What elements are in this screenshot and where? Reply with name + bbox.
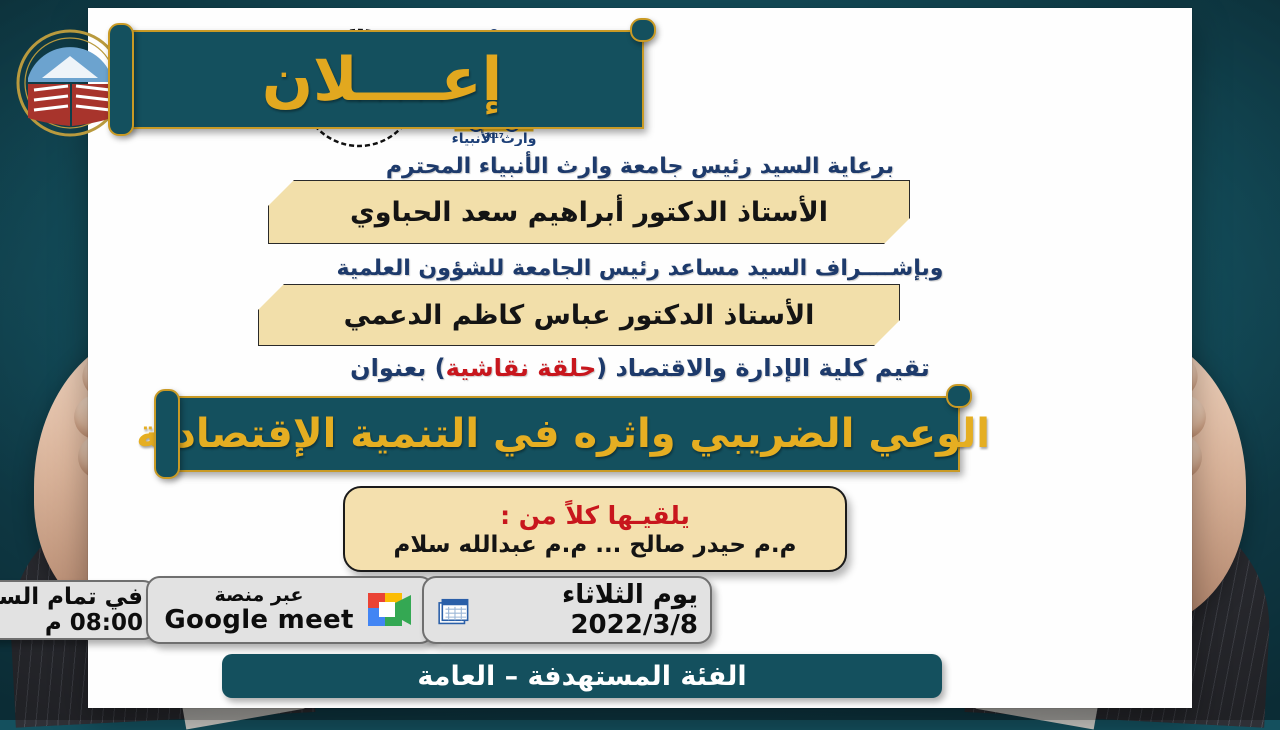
college-line-after: ) بعنوان	[350, 354, 445, 382]
supervision-line: وبإشــــراف السيد مساعد رئيس الجامعة للش…	[88, 256, 1192, 281]
college-line: تقيم كلية الإدارة والاقتصاد (حلقة نقاشية…	[88, 354, 1192, 382]
announcement-title: إعــــلان	[262, 50, 502, 110]
college-line-before: تقيم كلية الإدارة والاقتصاد (	[596, 354, 930, 382]
patron-name-box: الأستاذ الدكتور أبراهيم سعد الحباوي	[268, 180, 910, 244]
speakers-names: م.م حيدر صالح ... م.م عبدالله سلام	[394, 532, 797, 558]
platform-text: عبر منصة Google meet	[164, 585, 353, 635]
google-meet-icon	[364, 589, 416, 631]
speakers-box: يلقيـها كلاً من : م.م حيدر صالح ... م.م …	[343, 486, 847, 572]
patron-name: الأستاذ الدكتور أبراهيم سعد الحباوي	[350, 197, 828, 228]
platform-label: عبر منصة	[215, 585, 304, 606]
audience-text: الفئة المستهدفة – العامة	[417, 661, 746, 692]
calendar-icon	[436, 587, 472, 633]
college-line-highlight: حلقة نقاشية	[446, 354, 597, 382]
audience-footer: الفئة المستهدفة – العامة	[222, 654, 942, 698]
seminar-title: الوعي الضريبي واثره في التنمية الإقتصادي…	[136, 412, 990, 456]
speakers-heading: يلقيـها كلاً من :	[500, 501, 690, 530]
announcement-board: وارث الأنبياء 2017 UNIVERSITY OF WARITH …	[88, 8, 1192, 708]
platform-chip: عبر منصة Google meet	[146, 576, 434, 644]
time-text: في تمام الساعة 08:00 م	[0, 584, 143, 636]
time-chip: في تمام الساعة 08:00 م	[0, 580, 157, 640]
supervisor-name: الأستاذ الدكتور عباس كاظم الدعمي	[344, 300, 815, 331]
patronage-line: برعاية السيد رئيس جامعة وارث الأنبياء ال…	[88, 154, 1192, 179]
platform-name: Google meet	[164, 606, 353, 635]
announcement-banner: إعــــلان	[120, 30, 644, 129]
svg-text:2017: 2017	[484, 132, 504, 140]
seminar-title-banner: الوعي الضريبي واثره في التنمية الإقتصادي…	[166, 396, 960, 472]
date-text: يوم الثلاثاء 2022/3/8	[482, 580, 698, 640]
poster-stage: وارث الأنبياء 2017 UNIVERSITY OF WARITH …	[0, 0, 1280, 720]
supervisor-name-box: الأستاذ الدكتور عباس كاظم الدعمي	[258, 284, 900, 346]
date-chip: يوم الثلاثاء 2022/3/8	[422, 576, 712, 644]
